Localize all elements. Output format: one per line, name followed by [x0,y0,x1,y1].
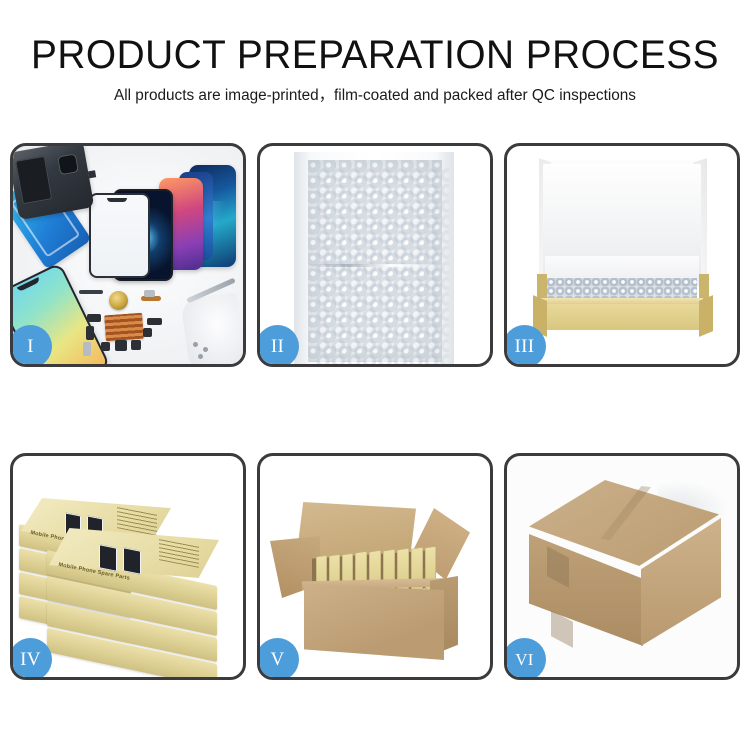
step-image-1 [13,146,243,364]
flex-pcb-icon [104,313,144,342]
step-image-6 [507,456,737,677]
phone-back-housing-icon [13,146,94,220]
step-image-2 [260,146,490,364]
retail-box-stack: Mobile Phone Spare Parts Mobile Phone Sp… [19,476,239,671]
step-image-5 [260,456,490,677]
step-badge-6: VI [504,638,546,680]
chip-icon [131,340,141,350]
speaker-coil-icon [109,291,128,310]
page-title: PRODUCT PREPARATION PROCESS [11,0,739,77]
step-panel-3: III [504,143,740,367]
step-image-3 [507,146,737,364]
hand-tool-icon [180,292,243,364]
step-panel-6: VI [504,453,740,680]
screw-icon [193,342,198,347]
box-product-thumbnail [123,547,141,574]
step-panel-1: I [10,143,246,367]
process-steps-grid: I II III [10,143,740,680]
vibration-motor-icon [115,340,127,351]
screw-icon [203,347,208,352]
wrap-left-edge [294,152,310,364]
step-badge-5: V [257,638,299,680]
sim-tray-icon [83,342,91,356]
camera-module-icon [147,318,162,325]
ribbon-cable-icon [79,290,103,294]
wrap-right-edge [436,152,454,364]
step-image-4: Mobile Phone Spare Parts Mobile Phone Sp… [13,456,243,677]
packed-box [397,548,409,595]
screen-protector-icon [89,193,150,278]
box-product-thumbnail [99,544,117,571]
sensor-icon [143,328,152,337]
connector-icon [86,326,94,340]
wrap-crease [306,264,446,267]
button-part-icon [101,342,110,351]
step-panel-4: Mobile Phone Spare Parts Mobile Phone Sp… [10,453,246,680]
step-badge-4: IV [10,638,52,680]
box-front-corner-right [699,295,713,337]
box-front-wall [541,304,703,330]
step-badge-3: III [504,325,546,367]
step-badge-2: II [257,325,299,367]
page-header: PRODUCT PREPARATION PROCESS All products… [0,0,750,105]
page-subtitle: All products are image-printed，film-coat… [4,77,747,105]
step-panel-5: V [257,453,493,680]
step-badge-1: I [10,325,52,367]
carton-front-face [304,584,444,660]
screw-icon [198,354,203,359]
step-panel-2: II [257,143,493,367]
small-part-icon [87,314,101,322]
metal-bracket-icon [144,290,155,297]
